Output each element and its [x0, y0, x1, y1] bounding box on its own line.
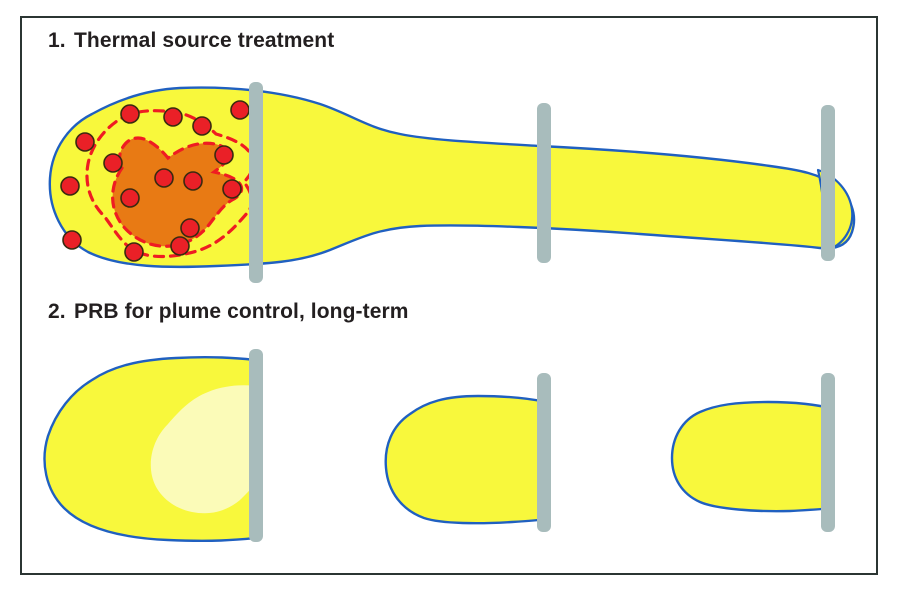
figure-root: 1.Thermal source treatment 2.PRB for plu… [0, 0, 900, 594]
well-marker-14 [181, 219, 199, 237]
well-marker-5 [125, 243, 143, 261]
well-marker-11 [193, 117, 211, 135]
plume-bottom-middle [386, 396, 546, 523]
panel-1-graphics [50, 82, 854, 283]
well-marker-15 [171, 237, 189, 255]
panel-2-graphics [45, 349, 835, 542]
barrier-2-bottom [537, 373, 551, 532]
well-marker-10 [184, 172, 202, 190]
well-marker-6 [121, 189, 139, 207]
well-marker-9 [164, 108, 182, 126]
barrier-1-bottom [249, 349, 263, 542]
diagram-canvas [0, 0, 900, 594]
well-marker-4 [63, 231, 81, 249]
panel-2-number: 2. [48, 300, 74, 324]
barrier-3-top [821, 105, 835, 261]
panel-2-label: 2.PRB for plume control, long-term [48, 300, 409, 324]
well-marker-13 [223, 180, 241, 198]
barrier-1-top [249, 82, 263, 283]
panel-1-title: Thermal source treatment [74, 29, 334, 52]
well-marker-3 [61, 177, 79, 195]
well-marker-12 [215, 146, 233, 164]
well-marker-8 [155, 169, 173, 187]
panel-1-number: 1. [48, 29, 74, 53]
plume-bottom-right [672, 402, 830, 511]
well-marker-1 [121, 105, 139, 123]
barrier-3-bottom [821, 373, 835, 532]
panel-1-label: 1.Thermal source treatment [48, 29, 334, 53]
barrier-2-top [537, 103, 551, 263]
panel-2-title: PRB for plume control, long-term [74, 300, 409, 323]
well-marker-2 [76, 133, 94, 151]
well-marker-16 [231, 101, 249, 119]
well-marker-7 [104, 154, 122, 172]
